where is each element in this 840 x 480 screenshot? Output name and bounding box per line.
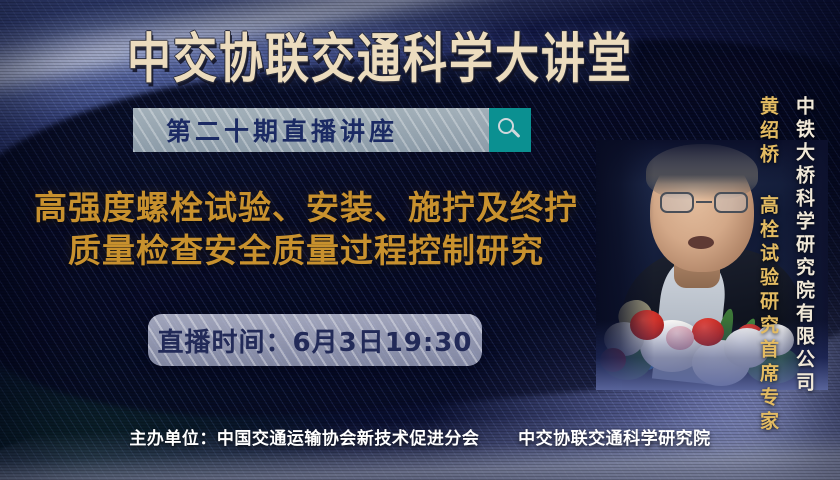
search-icon — [498, 118, 522, 142]
subtitle-label: 第二十期直播讲座 — [166, 112, 456, 148]
speaker-name-role: 黄绍桥 高栓试验研究首席专家 — [755, 96, 782, 435]
eyeglasses-icon — [658, 192, 750, 214]
footer-organizer-label: 主办单位：中国交通运输协会新技术促进分会 — [129, 429, 479, 449]
footer-co-organizer: 中交协联交通科学研究院 — [518, 429, 711, 449]
webinar-poster: 中交协联交通科学大讲堂 第二十期直播讲座 高强度螺栓试验、安装、施拧及终拧 质量… — [0, 0, 840, 480]
speaker-organization: 中铁大桥科学研究院有限公司 — [791, 96, 818, 395]
live-time-text: 直播时间：6月3日19:30 — [158, 322, 473, 359]
footer-organizers: 主办单位：中国交通运输协会新技术促进分会 中交协联交通科学研究院 — [0, 424, 840, 449]
headline-line-2: 质量检查安全质量过程控制研究 — [0, 229, 612, 272]
headline-line-1: 高强度螺栓试验、安装、施拧及终拧 — [0, 186, 612, 229]
subtitle-bar-body: 第二十期直播讲座 — [133, 108, 489, 152]
speaker-mouth — [688, 236, 714, 249]
live-time-badge: 直播时间：6月3日19:30 — [148, 314, 482, 366]
headline: 高强度螺栓试验、安装、施拧及终拧 质量检查安全质量过程控制研究 — [0, 186, 612, 272]
page-title: 中交协联交通科学大讲堂 — [0, 15, 760, 93]
subtitle-bar: 第二十期直播讲座 — [133, 108, 531, 152]
search-button[interactable] — [489, 108, 531, 152]
